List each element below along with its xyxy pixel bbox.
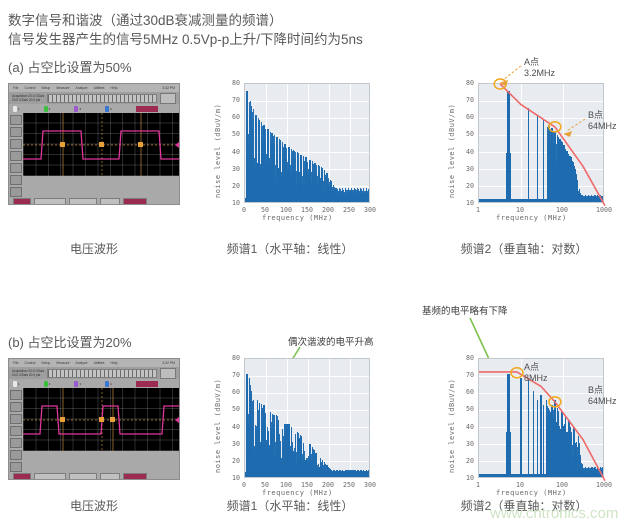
y-tick-label: 80 xyxy=(218,354,240,362)
spectrum-peak xyxy=(540,395,541,477)
scope-level-field[interactable] xyxy=(123,198,147,206)
annotation-a-point-a: A点 3.2 3.2MHz xyxy=(524,57,555,79)
x-tick-label: 300 xyxy=(356,481,384,489)
scope-tool-6[interactable] xyxy=(10,450,22,460)
x-tick-label: 1000 xyxy=(590,206,618,214)
scope-tool-1[interactable] xyxy=(10,115,22,125)
scope-menu-control[interactable]: Control xyxy=(24,359,35,367)
spectrum-peak xyxy=(543,120,544,202)
scope-clock: 3:32 PM xyxy=(162,84,175,92)
y-tick-label: 80 xyxy=(218,79,240,87)
oscilloscope-screenshot-b: File Control Setup Measure Analyze Utili… xyxy=(8,358,180,480)
chart-a2-plotarea xyxy=(478,83,604,203)
scope-tool-7[interactable] xyxy=(10,187,22,197)
annotation-a-point-freq: 3.2MHz xyxy=(524,68,555,79)
scope-menu-setup[interactable]: Setup xyxy=(41,84,50,92)
annotation-b-point-freq: 64MHz xyxy=(588,121,617,132)
scope-menu-help[interactable]: Help xyxy=(111,359,118,367)
x-tick-label: 300 xyxy=(356,206,384,214)
scope-zoom-button[interactable] xyxy=(160,368,176,379)
annotation-b-point-label: B点 xyxy=(588,110,617,121)
y-tick-label: 40 xyxy=(218,148,240,156)
scope-run-button[interactable] xyxy=(136,106,158,112)
scope-step-field[interactable] xyxy=(100,473,120,481)
chart-a2-trace xyxy=(479,84,603,202)
y-tick-label: 70 xyxy=(218,371,240,379)
scope-menu-utilities[interactable]: Utilities xyxy=(94,359,105,367)
scope-channel-4-label: 4 xyxy=(110,107,112,111)
y-tick-label: 20 xyxy=(452,182,474,190)
y-tick-label: 50 xyxy=(452,405,474,413)
scope-ctrl-color[interactable] xyxy=(13,198,31,206)
spectrum-peak-skirt xyxy=(510,432,511,477)
scope-channel-3-label: 3 xyxy=(79,382,81,386)
scope-tool-1[interactable] xyxy=(10,390,22,400)
scope-tool-4[interactable] xyxy=(10,426,22,436)
scope-controls-a[interactable] xyxy=(9,197,179,205)
scope-menu-control[interactable]: Control xyxy=(24,84,35,92)
spectrum-peak xyxy=(537,115,538,202)
scope-tool-5[interactable] xyxy=(10,438,22,448)
x-tick-label: 100 xyxy=(548,206,576,214)
y-tick-label: 30 xyxy=(218,165,240,173)
chart-a1-xlabel: frequency (MHz) xyxy=(262,214,333,222)
caption-spectrum1-a: 频谱1（水平轴：线性） xyxy=(206,240,374,257)
scope-channel-2-label: 2 xyxy=(49,107,51,111)
scope-channel-2-label: 2 xyxy=(49,382,51,386)
scope-tool-3[interactable] xyxy=(10,139,22,149)
scope-infobar-a: Acquisition 20.0 GSa/s 20.0 GSa/s 20.0 p… xyxy=(9,92,179,104)
scope-menu-file[interactable]: File xyxy=(13,84,18,92)
section-label-b: (b) 占空比设置为20% xyxy=(8,332,132,351)
scope-channel-3[interactable]: 3 xyxy=(74,381,81,387)
y-tick-label: 60 xyxy=(218,113,240,121)
scope-waveform-trace-b xyxy=(23,388,180,451)
y-tick-label: 80 xyxy=(452,79,474,87)
x-tick-label: 1 xyxy=(464,481,492,489)
chart-a2-xlabel: frequency (MHz) xyxy=(496,214,567,222)
scope-toolbar-b[interactable] xyxy=(9,388,23,472)
scope-channel-4[interactable]: 4 xyxy=(105,106,112,112)
scope-menubar-b[interactable]: File Control Setup Measure Analyze Utili… xyxy=(9,359,179,367)
scope-channel-4-label: 4 xyxy=(110,382,112,386)
x-tick-label: 1000 xyxy=(590,481,618,489)
scope-menu-file[interactable]: File xyxy=(13,359,18,367)
scope-waveform-grid-a[interactable] xyxy=(23,113,179,176)
scope-tool-3[interactable] xyxy=(10,414,22,424)
scope-toolbar-a[interactable] xyxy=(9,113,23,197)
y-tick-label: 20 xyxy=(218,457,240,465)
y-tick-label: 30 xyxy=(218,440,240,448)
spectrum-peak xyxy=(528,378,529,477)
scope-clock: 3:32 PM xyxy=(162,359,175,367)
site-watermark: www.cntronics.com xyxy=(490,505,618,522)
scope-channel-3-label: 3 xyxy=(79,107,81,111)
scope-acq-line2: 20.0 GSa/s 20.0 pts xyxy=(12,373,44,377)
scope-waveform-trace-a xyxy=(23,113,180,176)
scope-channel-row-b: 1 2 3 4 xyxy=(9,379,179,388)
scope-tool-7[interactable] xyxy=(10,462,22,472)
y-tick-label: 40 xyxy=(218,423,240,431)
scope-channel-1[interactable]: 1 xyxy=(13,381,20,387)
spectrum-peak-skirt xyxy=(510,153,511,202)
scope-waveform-grid-b[interactable] xyxy=(23,388,179,451)
scope-channel-4[interactable]: 4 xyxy=(105,381,112,387)
chart-spectrum2-a: noise level (dBuV/m) 1020304050607080 11… xyxy=(440,78,608,218)
annotation-a-point-label: A点 xyxy=(524,362,548,373)
scope-channel-2[interactable]: 2 xyxy=(44,381,51,387)
scope-controls-b[interactable] xyxy=(9,472,179,480)
y-tick-label: 50 xyxy=(452,130,474,138)
annotation-b-point-freq: 64MHz xyxy=(588,396,617,407)
scope-body-a xyxy=(9,113,179,197)
scope-menu-utilities[interactable]: Utilities xyxy=(94,84,105,92)
scope-memory-bar[interactable] xyxy=(47,94,157,103)
scope-acq-line2: 20.0 GSa/s 20.0 pts xyxy=(12,98,44,102)
y-tick-label: 20 xyxy=(452,457,474,465)
spectrum-peak xyxy=(543,405,544,477)
annotation-fundamental-drop: 基频的电平略有下降 xyxy=(422,303,508,317)
oscilloscope-screenshot-a: File Control Setup Measure Analyze Utili… xyxy=(8,83,180,205)
scope-run-button[interactable] xyxy=(136,381,158,387)
scope-memory-bar[interactable] xyxy=(47,369,157,378)
scope-menu-measure[interactable]: Measure xyxy=(56,84,69,92)
spectrum-peak xyxy=(528,108,529,202)
spectrum-peak xyxy=(537,400,538,477)
page-title-line2: 信号发生器产生的信号5MHz 0.5Vp-p上升/下降时间约为5ns xyxy=(8,28,363,48)
chart-a1-trace xyxy=(245,84,369,202)
chart-spectrum1-a: noise level (dBuV/m) 1020304050607080 05… xyxy=(206,78,374,218)
caption-waveform-b: 电压波形 xyxy=(8,497,180,514)
y-tick-label: 80 xyxy=(452,354,474,362)
caption-spectrum1-b: 频谱1（水平轴：线性） xyxy=(206,497,374,514)
scope-channel-1[interactable]: 1 xyxy=(13,106,20,112)
section-label-a: (a) 占空比设置为50% xyxy=(8,57,132,76)
scope-tool-2[interactable] xyxy=(10,127,22,137)
scope-timebase-field[interactable] xyxy=(69,198,97,206)
y-tick-label: 40 xyxy=(452,148,474,156)
y-tick-label: 40 xyxy=(452,423,474,431)
annotation-a-point-label: A点 xyxy=(524,57,555,68)
scope-infobar-b: Acquisition 20.0 GSa/s 20.0 GSa/s 20.0 p… xyxy=(9,367,179,379)
spectrum-peak xyxy=(533,391,534,477)
scope-channel-1-label: 1 xyxy=(18,382,20,386)
scope-zoom-button[interactable] xyxy=(160,93,176,104)
spectrum-peak xyxy=(520,378,521,477)
scope-menu-analyze[interactable]: Analyze xyxy=(75,84,87,92)
caption-waveform-a: 电压波形 xyxy=(8,240,180,257)
scope-channel-3[interactable]: 3 xyxy=(74,106,81,112)
annotation-a-point-freq: 8MHz xyxy=(524,373,548,384)
scope-tool-6[interactable] xyxy=(10,175,22,185)
scope-tool-5[interactable] xyxy=(10,163,22,173)
y-tick-label: 50 xyxy=(218,130,240,138)
annotation-a-point-b: A点 8MHz xyxy=(524,362,548,384)
scope-ctrl-color[interactable] xyxy=(13,473,31,481)
annotation-even-harmonics: 偶次谐波的电平升高 xyxy=(288,334,374,348)
y-tick-label: 60 xyxy=(452,388,474,396)
scope-menu-analyze[interactable]: Analyze xyxy=(75,359,87,367)
caption-spectrum2-a: 频谱2（垂直轴：对数） xyxy=(440,240,608,257)
x-tick-label: 1 xyxy=(464,206,492,214)
y-tick-label: 30 xyxy=(452,440,474,448)
chart-b2-xlabel: frequency (MHz) xyxy=(496,489,567,497)
scope-body-b xyxy=(9,388,179,472)
scope-menubar-a[interactable]: File Control Setup Measure Analyze Utili… xyxy=(9,84,179,92)
scope-trigger-select[interactable] xyxy=(34,198,66,206)
spectrum-peak-skirt xyxy=(506,432,507,477)
scope-tool-4[interactable] xyxy=(10,151,22,161)
scope-menu-measure[interactable]: Measure xyxy=(56,359,69,367)
chart-b1-plotarea xyxy=(244,358,370,478)
chart-b1-xlabel: frequency (MHz) xyxy=(262,489,333,497)
scope-channel-1-label: 1 xyxy=(18,107,20,111)
chart-spectrum1-b: noise level (dBuV/m) 1020304050607080 05… xyxy=(206,353,374,493)
y-tick-label: 50 xyxy=(218,405,240,413)
spectrum-peak-skirt xyxy=(506,153,507,202)
x-tick-label: 100 xyxy=(548,481,576,489)
scope-timebase-field[interactable] xyxy=(69,473,97,481)
chart-b1-trace xyxy=(245,359,369,477)
scope-menu-setup[interactable]: Setup xyxy=(41,359,50,367)
y-tick-label: 60 xyxy=(218,388,240,396)
page-title-line1: 数字信号和谐波（通过30dB衰减测量的频谱） xyxy=(8,9,283,29)
y-tick-label: 70 xyxy=(452,371,474,379)
scope-menu-help[interactable]: Help xyxy=(111,84,118,92)
y-tick-label: 70 xyxy=(452,96,474,104)
scope-tool-2[interactable] xyxy=(10,402,22,412)
x-tick-label: 10 xyxy=(506,481,534,489)
annotation-b-point-a: B点 64MHz xyxy=(588,110,617,132)
scope-step-field[interactable] xyxy=(100,198,120,206)
x-tick-label: 10 xyxy=(506,206,534,214)
y-tick-label: 20 xyxy=(218,182,240,190)
y-tick-label: 30 xyxy=(452,165,474,173)
annotation-b-point-label: B点 xyxy=(588,385,617,396)
y-tick-label: 70 xyxy=(218,96,240,104)
scope-trigger-select[interactable] xyxy=(34,473,66,481)
y-tick-label: 60 xyxy=(452,113,474,121)
scope-channel-2[interactable]: 2 xyxy=(44,106,51,112)
scope-channel-row-a: 1 2 3 4 xyxy=(9,104,179,113)
scope-level-field[interactable] xyxy=(123,473,147,481)
chart-a1-plotarea xyxy=(244,83,370,203)
annotation-b-point-b: B点 64MHz xyxy=(588,385,617,407)
